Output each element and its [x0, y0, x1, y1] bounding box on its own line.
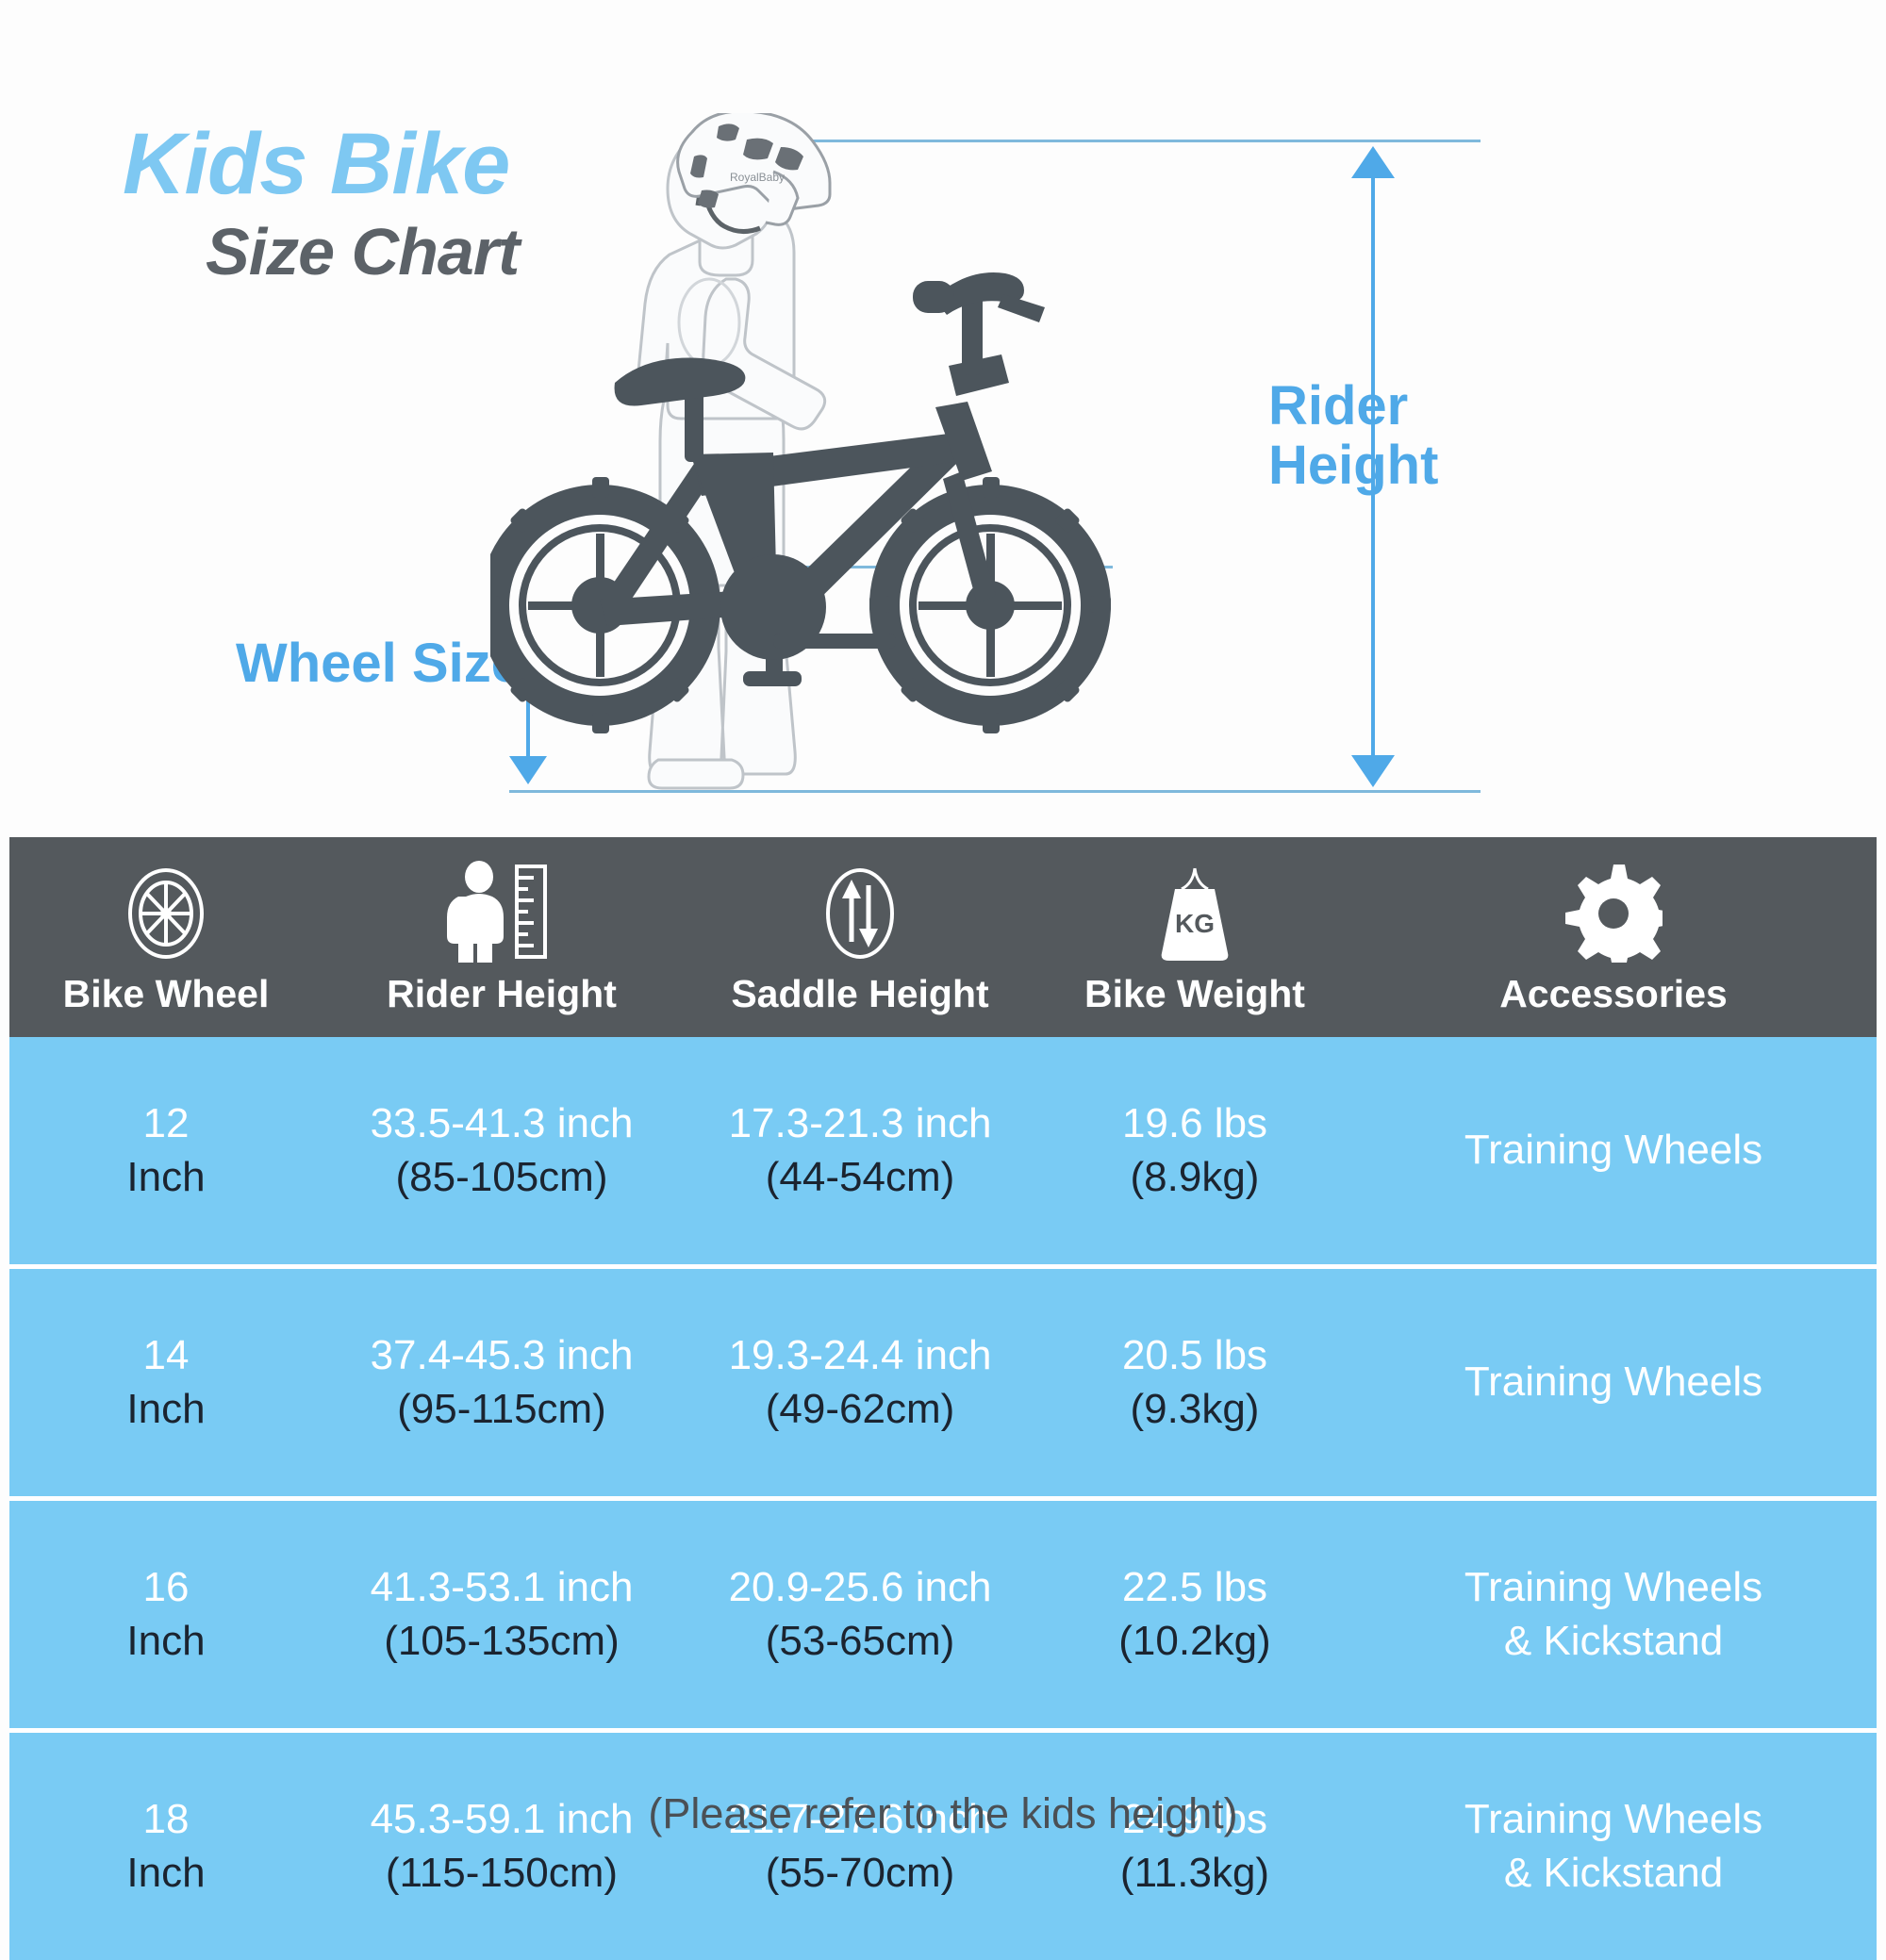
- cell-value-secondary: (44-54cm): [766, 1151, 955, 1204]
- arrow-head-up-icon: [1351, 146, 1395, 178]
- kg-weight-icon: KG: [1147, 861, 1243, 963]
- cell-value-primary: 17.3-21.3 inch: [729, 1097, 992, 1150]
- gear-icon: [1564, 861, 1663, 963]
- cell-value-primary: 14: [143, 1329, 190, 1382]
- column-header-label: Bike Wheel: [63, 972, 270, 1016]
- rider-ruler-icon: [447, 861, 556, 963]
- bike-icon: [490, 272, 1111, 733]
- cell-value-primary: Training Wheels: [1464, 1356, 1762, 1408]
- cell-bike-weight: 19.6 lbs (8.9kg): [1039, 1097, 1350, 1204]
- cell-value-primary: 20.5 lbs: [1122, 1329, 1267, 1382]
- cell-value-primary: 19.3-24.4 inch: [729, 1329, 992, 1382]
- bike-wheel-icon: [117, 861, 215, 963]
- column-header-label: Rider Height: [387, 972, 617, 1016]
- cell-value-secondary: (49-62cm): [766, 1383, 955, 1436]
- table-row: 14 Inch 37.4-45.3 inch (95-115cm) 19.3-2…: [9, 1269, 1877, 1501]
- cell-value-primary: 41.3-53.1 inch: [371, 1561, 634, 1614]
- cell-value-secondary: (9.3kg): [1131, 1383, 1260, 1436]
- cell-value-secondary: Inch: [126, 1615, 205, 1668]
- cell-rider-height: 41.3-53.1 inch (105-135cm): [323, 1561, 681, 1668]
- rider-height-label-line2: Height: [1268, 436, 1438, 496]
- column-header-label: Bike Weight: [1084, 972, 1305, 1016]
- table-row: 16 Inch 41.3-53.1 inch (105-135cm) 20.9-…: [9, 1501, 1877, 1733]
- cell-value-secondary: (11.3kg): [1120, 1847, 1269, 1900]
- cell-value-secondary: (55-70cm): [766, 1847, 955, 1900]
- cell-value-primary: 12: [143, 1097, 190, 1150]
- cell-value-secondary: & Kickstand: [1504, 1847, 1723, 1900]
- cell-value-secondary: Inch: [126, 1847, 205, 1900]
- rider-height-label-line1: Rider: [1268, 377, 1438, 436]
- table-header-row: Bike Wheel: [9, 837, 1877, 1037]
- front-wheel-icon: [869, 477, 1111, 733]
- column-header-saddle-height: Saddle Height: [681, 837, 1039, 1037]
- cell-value-primary: 22.5 lbs: [1122, 1561, 1267, 1614]
- cell-value-primary: 20.9-25.6 inch: [729, 1561, 992, 1614]
- cell-value-secondary: (10.2kg): [1118, 1615, 1270, 1668]
- cell-value-secondary: Inch: [126, 1151, 205, 1204]
- size-chart-page: Kids Bike Size Chart Rider Height Wheel …: [0, 0, 1886, 1886]
- cell-accessories: Training Wheels: [1350, 1356, 1877, 1408]
- cell-bike-weight: 22.5 lbs (10.2kg): [1039, 1561, 1350, 1668]
- helmet-brand-text: RoyalBaby: [730, 171, 785, 184]
- cell-saddle-height: 20.9-25.6 inch (53-65cm): [681, 1561, 1039, 1668]
- cell-saddle-height: 19.3-24.4 inch (49-62cm): [681, 1329, 1039, 1436]
- cell-accessories: Training Wheels & Kickstand: [1350, 1561, 1877, 1668]
- column-header-accessories: Accessories: [1350, 837, 1877, 1037]
- cell-bike-wheel: 12 Inch: [9, 1097, 323, 1204]
- cell-saddle-height: 17.3-21.3 inch (44-54cm): [681, 1097, 1039, 1204]
- footnote-text: (Please refer to the kids height): [0, 1789, 1886, 1838]
- cell-accessories: Training Wheels: [1350, 1124, 1877, 1177]
- cell-value-secondary: (85-105cm): [396, 1151, 608, 1204]
- cell-value-primary: 16: [143, 1561, 190, 1614]
- cell-value-secondary: & Kickstand: [1504, 1615, 1723, 1668]
- wheel-size-label: Wheel Size: [236, 634, 521, 694]
- hero-illustration-section: Kids Bike Size Chart Rider Height Wheel …: [0, 0, 1886, 820]
- table-row: 18 Inch 45.3-59.1 inch (115-150cm) 21.7-…: [9, 1733, 1877, 1960]
- cell-value-secondary: (53-65cm): [766, 1615, 955, 1668]
- column-header-rider-height: Rider Height: [323, 837, 681, 1037]
- cell-value-primary: 33.5-41.3 inch: [371, 1097, 634, 1150]
- svg-text:KG: KG: [1175, 909, 1215, 938]
- cell-value-secondary: (115-150cm): [386, 1847, 618, 1900]
- rider-height-label: Rider Height: [1268, 377, 1438, 495]
- bike-and-rider-illustration: RoyalBaby: [490, 113, 1226, 811]
- cell-value-primary: Training Wheels: [1464, 1124, 1762, 1177]
- column-header-bike-wheel: Bike Wheel: [9, 837, 323, 1037]
- column-header-bike-weight: KG Bike Weight: [1039, 837, 1350, 1037]
- column-header-label: Accessories: [1499, 972, 1728, 1016]
- cell-value-primary: 19.6 lbs: [1122, 1097, 1267, 1150]
- arrow-head-down-icon: [1351, 755, 1395, 787]
- saddle-height-arrows-icon: [813, 861, 907, 963]
- cell-value-primary: 37.4-45.3 inch: [371, 1329, 634, 1382]
- table-row: 12 Inch 33.5-41.3 inch (85-105cm) 17.3-2…: [9, 1037, 1877, 1269]
- cell-value-secondary: Inch: [126, 1383, 205, 1436]
- cell-rider-height: 37.4-45.3 inch (95-115cm): [323, 1329, 681, 1436]
- cell-bike-weight: 20.5 lbs (9.3kg): [1039, 1329, 1350, 1436]
- cell-value-secondary: (8.9kg): [1131, 1151, 1260, 1204]
- cell-value-secondary: (105-135cm): [384, 1615, 619, 1668]
- column-header-label: Saddle Height: [731, 972, 988, 1016]
- cell-bike-wheel: 16 Inch: [9, 1561, 323, 1668]
- cell-value-secondary: (95-115cm): [397, 1383, 606, 1436]
- cell-rider-height: 33.5-41.3 inch (85-105cm): [323, 1097, 681, 1204]
- cell-value-primary: Training Wheels: [1464, 1561, 1762, 1614]
- cell-bike-wheel: 14 Inch: [9, 1329, 323, 1436]
